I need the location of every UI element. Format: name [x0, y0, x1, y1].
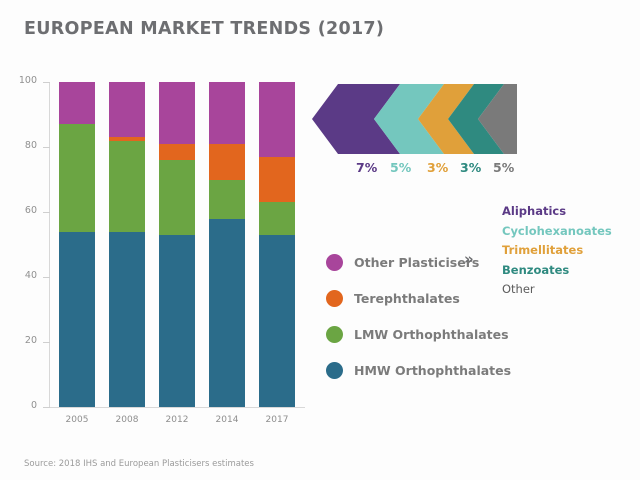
bar-segment-other-plasticisers[interactable]	[59, 82, 95, 124]
bar-segment-hmw-orthophthalates[interactable]	[209, 219, 245, 408]
bar-segment-terephthalates[interactable]	[159, 144, 195, 160]
bar-segment-hmw-orthophthalates[interactable]	[159, 235, 195, 407]
chart-canvas: EUROPEAN MARKET TRENDS (2017) 0204060801…	[0, 0, 640, 480]
bar-segment-other-plasticisers[interactable]	[109, 82, 145, 137]
legend-dot-terephthalates-icon	[326, 290, 343, 307]
y-tick-label: 60	[7, 205, 37, 216]
chevron-svg	[312, 84, 517, 154]
breakdown-percentages: 7%5%3%3%5%	[312, 160, 527, 180]
legend-label: Other Plasticisers	[354, 255, 479, 270]
source-note: Source: 2018 IHS and European Plasticise…	[24, 459, 254, 469]
legend-item-hmw-orthophthalates[interactable]: HMW Orthophthalates	[326, 352, 526, 388]
breakdown-pct-other: 5%	[493, 160, 514, 175]
series-legend: Other PlasticisersTerephthalatesLMW Orth…	[326, 244, 526, 388]
bar-2012[interactable]	[159, 82, 195, 407]
breakdown-label-aliphatics: Aliphatics	[502, 202, 640, 222]
chevron-separator-icon: »	[464, 250, 472, 268]
legend-item-other-plasticisers[interactable]: Other Plasticisers	[326, 244, 526, 280]
bar-segment-lmw-orthophthalates[interactable]	[59, 124, 95, 231]
bar-segment-lmw-orthophthalates[interactable]	[259, 202, 295, 235]
x-tick-label-2008: 2008	[101, 415, 153, 425]
bar-segment-terephthalates[interactable]	[259, 157, 295, 203]
breakdown-pct-aliphatics: 7%	[356, 160, 377, 175]
y-tick	[43, 407, 50, 408]
legend-label: HMW Orthophthalates	[354, 363, 511, 378]
y-tick	[43, 147, 50, 148]
breakdown-pct-benzoates: 3%	[460, 160, 481, 175]
y-axis-line	[49, 82, 50, 407]
bar-2017[interactable]	[259, 82, 295, 407]
breakdown-label-cyclohexanoates: Cyclohexanoates	[502, 222, 640, 242]
y-tick	[43, 212, 50, 213]
legend-label: LMW Orthophthalates	[354, 327, 509, 342]
bar-segment-hmw-orthophthalates[interactable]	[259, 235, 295, 407]
breakdown-chevrons	[312, 84, 517, 154]
bar-segment-hmw-orthophthalates[interactable]	[109, 232, 145, 408]
x-axis-line	[49, 407, 305, 408]
bar-2008[interactable]	[109, 82, 145, 407]
bar-segment-lmw-orthophthalates[interactable]	[209, 180, 245, 219]
bar-segment-lmw-orthophthalates[interactable]	[109, 141, 145, 232]
legend-dot-lmw-icon	[326, 326, 343, 343]
legend-item-lmw-orthophthalates[interactable]: LMW Orthophthalates	[326, 316, 526, 352]
legend-label: Terephthalates	[354, 291, 460, 306]
y-tick-label: 20	[7, 335, 37, 346]
x-tick-label-2014: 2014	[201, 415, 253, 425]
y-tick-label: 0	[7, 400, 37, 411]
breakdown-pct-cyclohexanoates: 5%	[390, 160, 411, 175]
x-tick-label-2017: 2017	[251, 415, 303, 425]
plot-area: 020406080100 20052008201220142017	[55, 82, 305, 407]
bar-segment-lmw-orthophthalates[interactable]	[159, 160, 195, 235]
bar-segment-other-plasticisers[interactable]	[159, 82, 195, 144]
breakdown-pct-trimellitates: 3%	[427, 160, 448, 175]
page-title: EUROPEAN MARKET TRENDS (2017)	[24, 19, 384, 39]
bar-2014[interactable]	[209, 82, 245, 407]
bar-segment-other-plasticisers[interactable]	[209, 82, 245, 144]
y-tick-label: 40	[7, 270, 37, 281]
bar-segment-hmw-orthophthalates[interactable]	[59, 232, 95, 408]
y-tick-label: 80	[7, 140, 37, 151]
legend-item-terephthalates[interactable]: Terephthalates	[326, 280, 526, 316]
bar-segment-other-plasticisers[interactable]	[259, 82, 295, 157]
y-tick-label: 100	[7, 75, 37, 86]
bar-2005[interactable]	[59, 82, 95, 407]
bar-segment-terephthalates[interactable]	[209, 144, 245, 180]
y-tick	[43, 277, 50, 278]
legend-dot-other-plasticisers-icon	[326, 254, 343, 271]
y-tick	[43, 82, 50, 83]
x-tick-label-2012: 2012	[151, 415, 203, 425]
legend-dot-hmw-icon	[326, 362, 343, 379]
y-tick	[43, 342, 50, 343]
x-tick-label-2005: 2005	[51, 415, 103, 425]
